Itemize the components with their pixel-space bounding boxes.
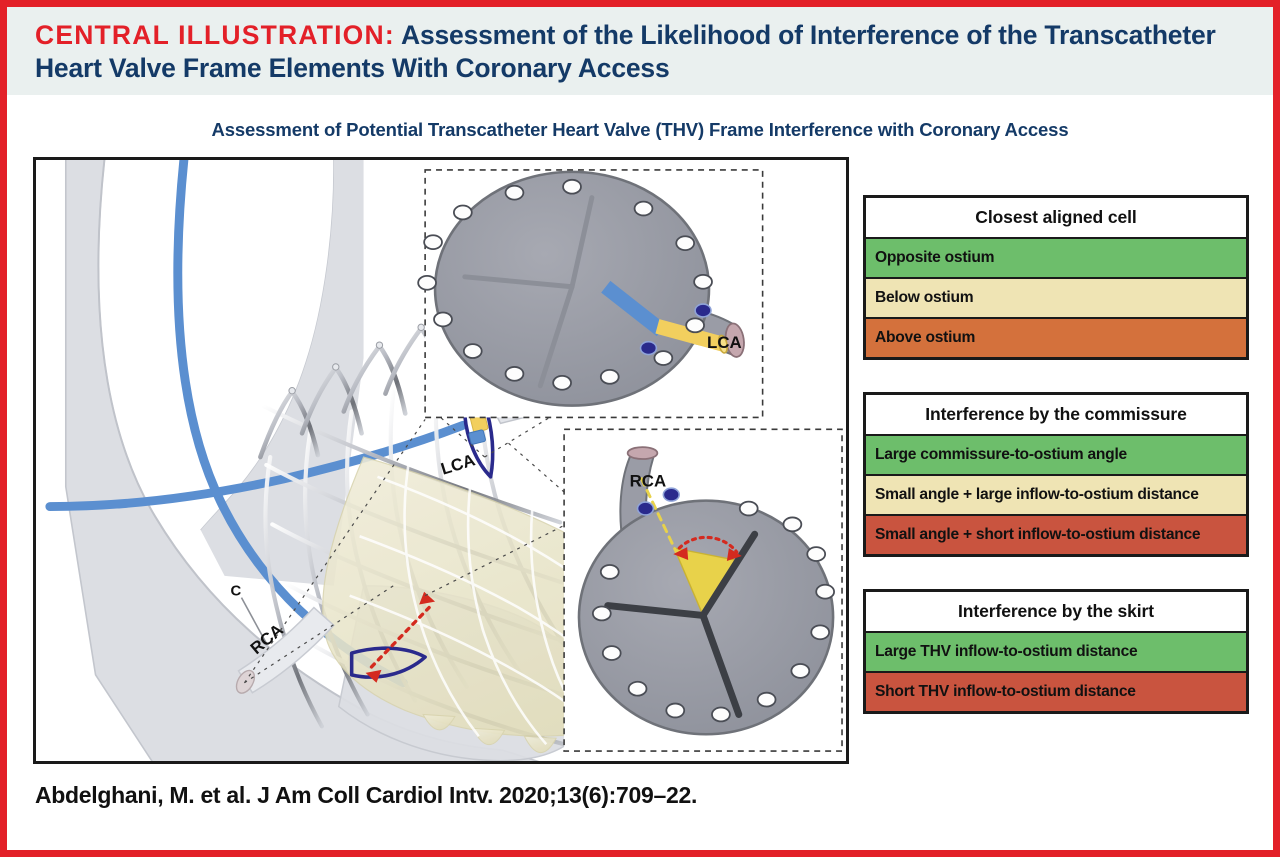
rca-label-inset: RCA [630,472,667,491]
legend-row-large-thv-inflow-distance[interactable]: Large THV inflow-to-ostium distance [866,633,1246,673]
header-band: CENTRAL ILLUSTRATION: Assessment of the … [7,7,1273,95]
illustration-subtitle: Assessment of Potential Transcatheter He… [7,119,1273,141]
legend-panel-title: Interference by the skirt [866,592,1246,633]
illustration-panel: C LCA RCA [33,157,849,764]
legend-row-large-commissure-angle[interactable]: Large commissure-to-ostium angle [866,436,1246,476]
legend-row-opposite-ostium[interactable]: Opposite ostium [866,239,1246,279]
central-illustration-page: CENTRAL ILLUSTRATION: Assessment of the … [0,0,1280,857]
inset-rca-enface: RCA [564,429,842,751]
legend-panel-interference-skirt: Interference by the skirt Large THV infl… [863,589,1249,714]
inset-lca-enface: LCA [418,170,762,418]
legend-panel-title: Interference by the commissure [866,395,1246,436]
legend-row-above-ostium[interactable]: Above ostium [866,319,1246,357]
header-prefix-label: CENTRAL ILLUSTRATION: [35,20,395,50]
legend-panel-interference-commissure: Interference by the commissure Large com… [863,392,1249,557]
legend-row-below-ostium[interactable]: Below ostium [866,279,1246,319]
legend-column: Closest aligned cell Opposite ostium Bel… [863,195,1249,746]
legend-row-small-angle-large-distance[interactable]: Small angle + large inflow-to-ostium dis… [866,476,1246,516]
legend-row-short-thv-inflow-distance[interactable]: Short THV inflow-to-ostium distance [866,673,1246,711]
lca-label-inset: LCA [707,333,742,352]
legend-row-small-angle-short-distance[interactable]: Small angle + short inflow-to-ostium dis… [866,516,1246,554]
commissure-marker-label: C [231,584,242,600]
legend-panel-title: Closest aligned cell [866,198,1246,239]
legend-panel-closest-aligned-cell: Closest aligned cell Opposite ostium Bel… [863,195,1249,360]
thv-coronary-illustration: C LCA RCA [36,160,846,761]
page-title: CENTRAL ILLUSTRATION: Assessment of the … [35,19,1255,85]
citation-line: Abdelghani, M. et al. J Am Coll Cardiol … [35,782,697,809]
lca-label-main: LCA [439,450,478,478]
